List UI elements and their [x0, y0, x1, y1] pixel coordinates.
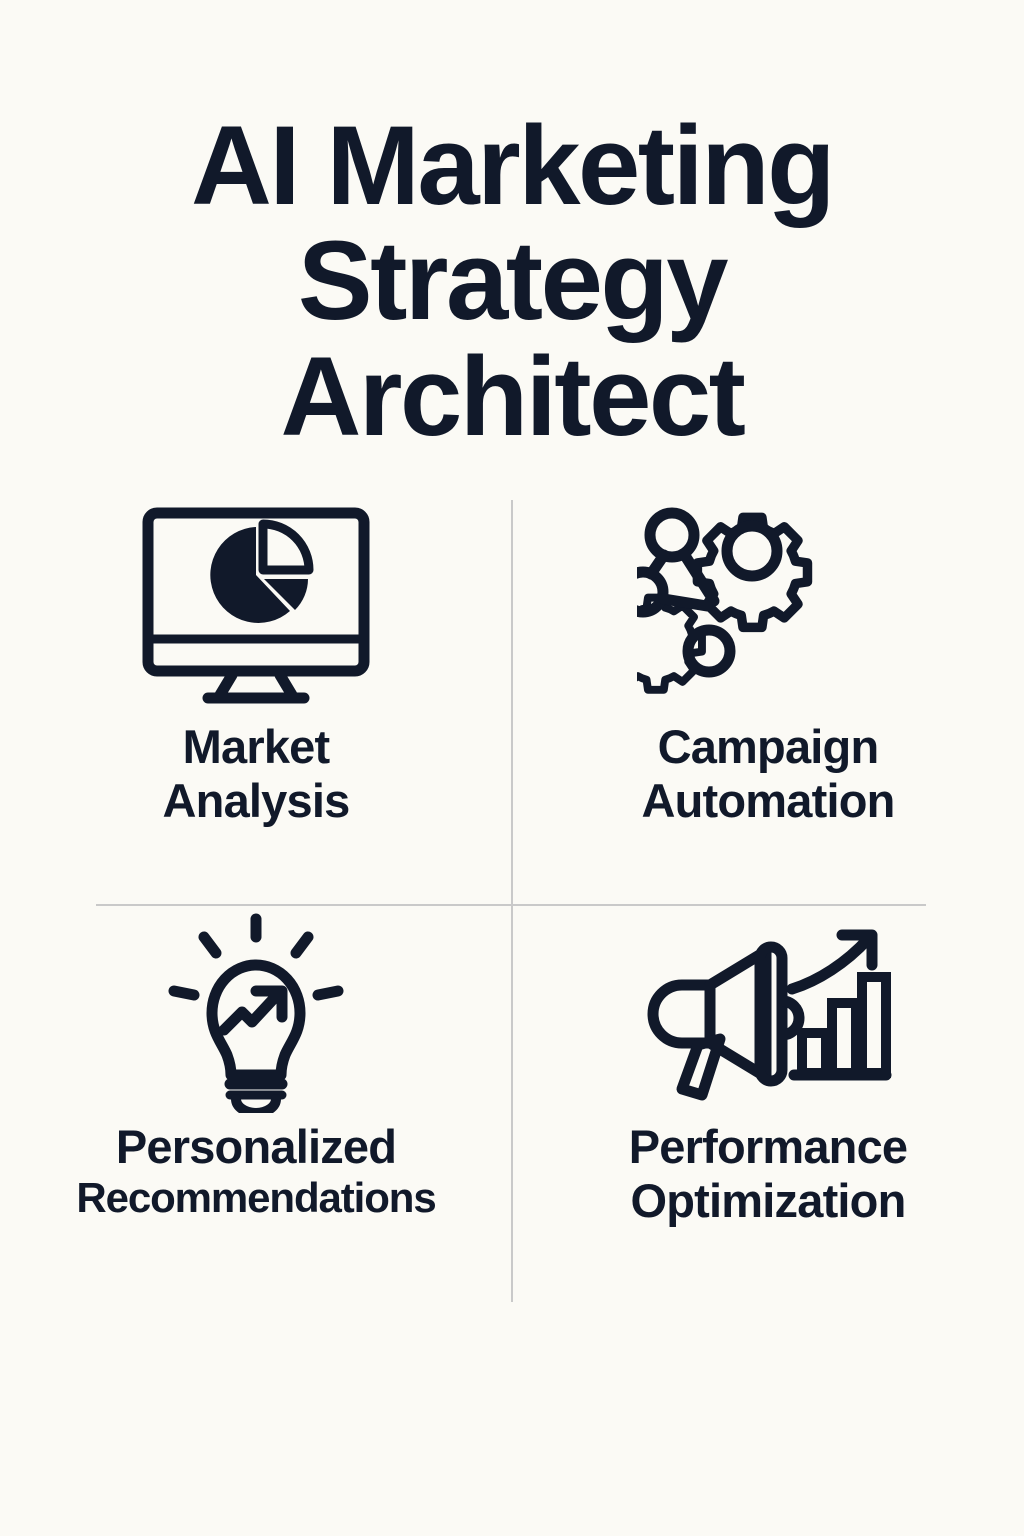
feature-cell-campaign-automation[interactable]: Campaign Automation — [512, 490, 1024, 900]
megaphone-bar-chart-icon — [642, 905, 894, 1120]
feature-label-performance-optimization: Performance Optimization — [629, 1120, 908, 1227]
feature-label-line2: Recommendations — [76, 1174, 435, 1222]
feature-cell-performance-optimization[interactable]: Performance Optimization — [512, 905, 1024, 1315]
feature-label-market-analysis: Market Analysis — [163, 720, 350, 827]
page-title: AI Marketing Strategy Architect — [0, 108, 1024, 454]
feature-grid: Market Analysis — [0, 490, 1024, 1310]
monitor-pie-chart-icon — [140, 490, 372, 720]
poster-root: AI Marketing Strategy Architect — [0, 0, 1024, 1536]
feature-label-line1: Personalized — [116, 1120, 396, 1173]
lightbulb-growth-arrow-icon — [168, 905, 344, 1120]
feature-cell-personalized-recommendations[interactable]: Personalized Recommendations — [0, 905, 512, 1315]
feature-label-line1: Market — [183, 720, 330, 773]
feature-label-line2: Automation — [641, 774, 894, 828]
feature-label-line1: Campaign — [658, 720, 879, 773]
feature-cell-market-analysis[interactable]: Market Analysis — [0, 490, 512, 900]
feature-label-line1: Performance — [629, 1120, 908, 1173]
feature-label-campaign-automation: Campaign Automation — [641, 720, 894, 827]
gears-network-icon — [637, 490, 899, 720]
feature-label-personalized-recommendations: Personalized Recommendations — [76, 1120, 435, 1221]
feature-label-line2: Analysis — [163, 774, 350, 828]
feature-label-line2: Optimization — [629, 1174, 908, 1228]
